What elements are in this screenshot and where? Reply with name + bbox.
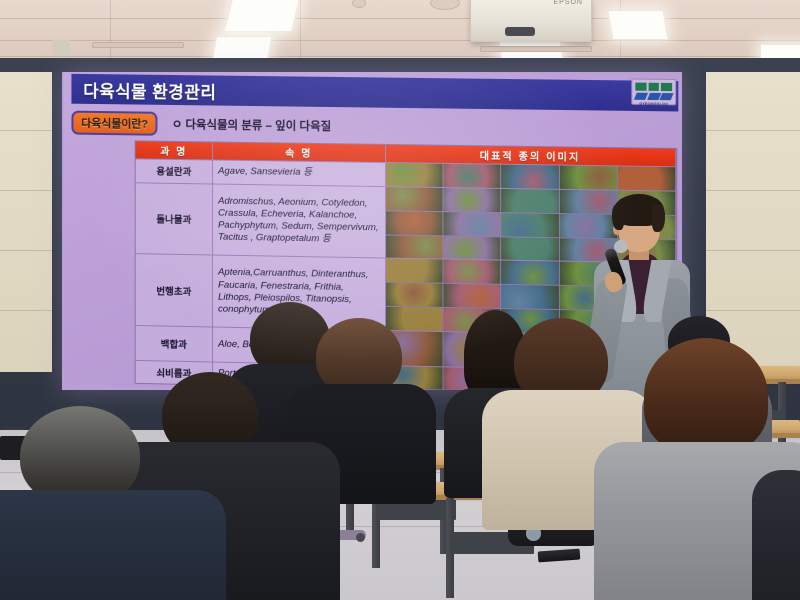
cell-genus: Agave, Sansevieria 등 <box>213 161 386 186</box>
wall-panel-left <box>0 72 52 372</box>
projector-brand-label: EPSON <box>553 0 583 6</box>
slide-section-badge: 다육식물이란? <box>71 111 157 136</box>
ceiling-light <box>224 0 300 32</box>
logo-caption: GYEONGGI-DO <box>635 101 672 106</box>
gyeonggi-do-logo: GYEONGGI-DO <box>631 78 676 105</box>
presenter-hair-side-right <box>652 204 665 232</box>
species-photo <box>444 164 501 188</box>
species-photo <box>502 285 559 309</box>
cell-genus: Adromischus, Aeonium, Cotyledon, Crassul… <box>213 184 386 258</box>
species-photo <box>444 236 501 260</box>
ceiling-light <box>607 10 668 40</box>
projector-mount <box>52 40 70 56</box>
attendee-front-left <box>0 406 210 600</box>
species-photo <box>502 213 559 237</box>
attendee-right-edge <box>752 470 800 600</box>
attendee-body <box>752 470 800 600</box>
cell-family: 백합과 <box>136 326 213 362</box>
slide-subtitle: ㅇ 다육식물의 분류 – 잎이 다육질 <box>172 116 331 134</box>
species-photo <box>386 211 443 235</box>
ceiling-vent <box>92 42 184 48</box>
presenter-hair-side-left <box>612 204 624 230</box>
ceiling-speaker <box>430 0 460 10</box>
species-photo <box>386 187 443 211</box>
species-photo <box>386 163 443 187</box>
attendee-head <box>644 338 768 454</box>
ceiling-projector: EPSON <box>470 0 592 42</box>
species-photo <box>502 261 559 285</box>
slide-title-bar: 다육식물 환경관리 <box>71 74 678 112</box>
species-photo <box>502 237 559 261</box>
slide-title: 다육식물 환경관리 <box>83 76 216 103</box>
species-photo <box>386 283 443 307</box>
species-photo <box>502 165 559 189</box>
column-header-family: 과 명 <box>136 141 213 159</box>
species-photo <box>444 284 501 308</box>
cell-family: 번행초과 <box>136 255 213 327</box>
ceiling: EPSON <box>0 0 800 62</box>
species-photo <box>444 212 501 236</box>
cell-family: 용설란과 <box>136 159 213 183</box>
species-photo <box>386 259 443 283</box>
species-photo <box>386 235 443 259</box>
species-photo <box>444 188 501 212</box>
attendee-body <box>0 490 226 600</box>
projector-lens <box>505 27 535 36</box>
species-photo <box>444 260 501 284</box>
cell-family: 돌나물과 <box>136 183 213 255</box>
ceiling-vent <box>480 46 592 52</box>
species-photo <box>502 189 559 213</box>
ceiling-speaker <box>352 0 366 8</box>
lecture-room-photo: EPSON 다육식물 환경관리 <box>0 0 800 600</box>
